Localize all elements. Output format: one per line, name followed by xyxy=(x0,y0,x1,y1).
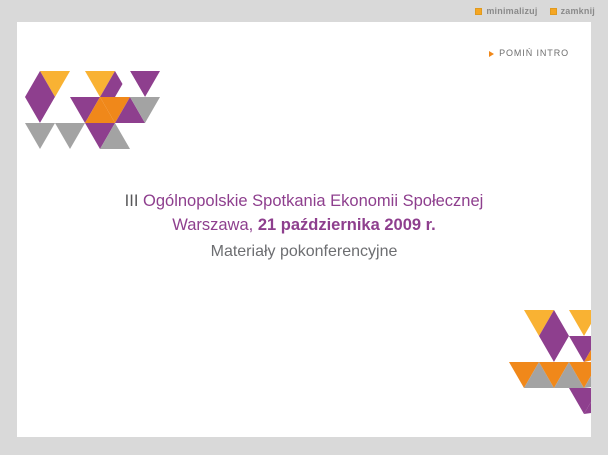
skip-intro-link[interactable]: POMIŃ INTRO xyxy=(489,49,569,58)
slide-panel: POMIŃ INTRO III Ogó xyxy=(17,22,591,437)
triangle-mosaic-bottom-right xyxy=(505,310,591,419)
close-label: zamknij xyxy=(561,7,595,16)
window-controls-bar: minimalizuj zamknij xyxy=(0,0,608,22)
triangle-mosaic-top-left xyxy=(20,71,160,176)
title-line-2: Warszawa, 21 października 2009 r. xyxy=(17,214,591,238)
skip-intro-label: POMIŃ INTRO xyxy=(499,49,569,58)
close-button[interactable]: zamknij xyxy=(550,7,595,16)
title-block: III Ogólnopolskie Spotkania Ekonomii Spo… xyxy=(17,190,591,263)
title-line-1: III Ogólnopolskie Spotkania Ekonomii Spo… xyxy=(17,190,591,214)
play-triangle-icon xyxy=(489,51,494,57)
title-numeral: III xyxy=(125,192,143,210)
title-subtitle: Materiały pokonferencyjne xyxy=(17,240,591,263)
orange-square-icon xyxy=(475,8,482,15)
minimize-label: minimalizuj xyxy=(486,7,537,16)
minimize-button[interactable]: minimalizuj xyxy=(475,7,537,16)
title-city: Warszawa, xyxy=(172,216,258,234)
orange-square-icon xyxy=(550,8,557,15)
title-event-name: Ogólnopolskie Spotkania Ekonomii Społecz… xyxy=(143,192,483,210)
title-date: 21 października 2009 r. xyxy=(258,216,436,234)
